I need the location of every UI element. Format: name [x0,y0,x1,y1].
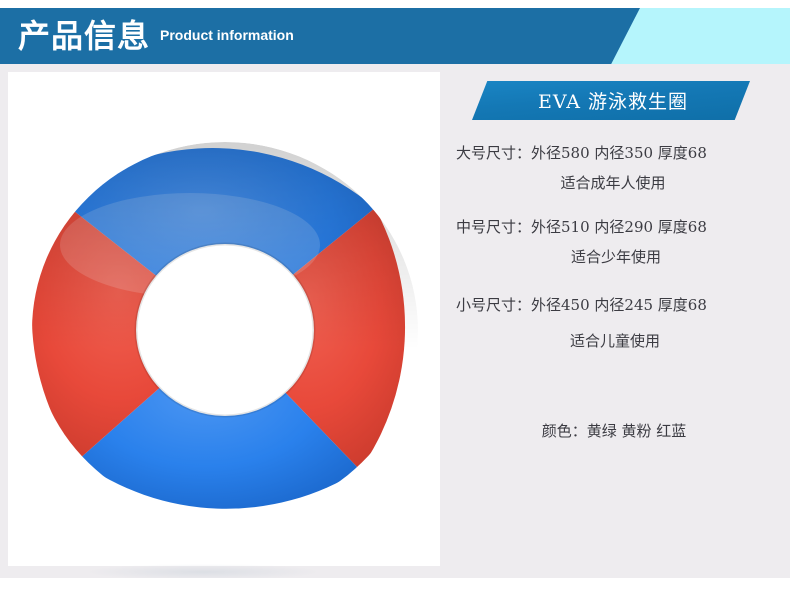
color-options-label: 颜色：黄绿 黄粉 红蓝 [450,420,790,441]
product-name-banner: EVA 游泳救生圈 [472,81,750,120]
product-name-label: EVA 游泳救生圈 [472,81,750,120]
header-title-group: 产品信息 Product information [18,8,294,64]
spec-medium-usage: 适合少年使用 [450,242,790,272]
ring-segments [32,142,418,518]
spec-small-dimensions: 小号尺寸：外径450 内径245 厚度68 [450,290,790,320]
top-white-strip [0,0,790,8]
spec-group-small: 小号尺寸：外径450 内径245 厚度68 适合儿童使用 [450,290,790,362]
spec-group-medium: 中号尺寸：外径510 内径290 厚度68 适合少年使用 [450,212,790,272]
product-details-column: EVA 游泳救生圈 大号尺寸：外径580 内径350 厚度68 适合成年人使用 … [450,72,790,566]
product-image [8,72,440,566]
specifications-list: 大号尺寸：外径580 内径350 厚度68 适合成年人使用 中号尺寸：外径510… [450,138,790,376]
spec-large-usage: 适合成年人使用 [450,168,790,198]
spec-group-large: 大号尺寸：外径580 内径350 厚度68 适合成年人使用 [450,138,790,198]
spec-large-dimensions: 大号尺寸：外径580 内径350 厚度68 [450,138,790,168]
page-subtitle: Product information [160,28,294,44]
page-header: 产品信息 Product information [0,8,790,64]
bottom-white-strip [0,578,790,593]
spec-medium-dimensions: 中号尺寸：外径510 内径290 厚度68 [450,212,790,242]
product-info-page: 产品信息 Product information [0,0,790,593]
page-title: 产品信息 [18,20,150,52]
spec-small-usage: 适合儿童使用 [450,320,790,362]
swim-ring-illustration [30,140,420,520]
product-image-panel [8,72,440,566]
ring-shading [32,142,418,518]
